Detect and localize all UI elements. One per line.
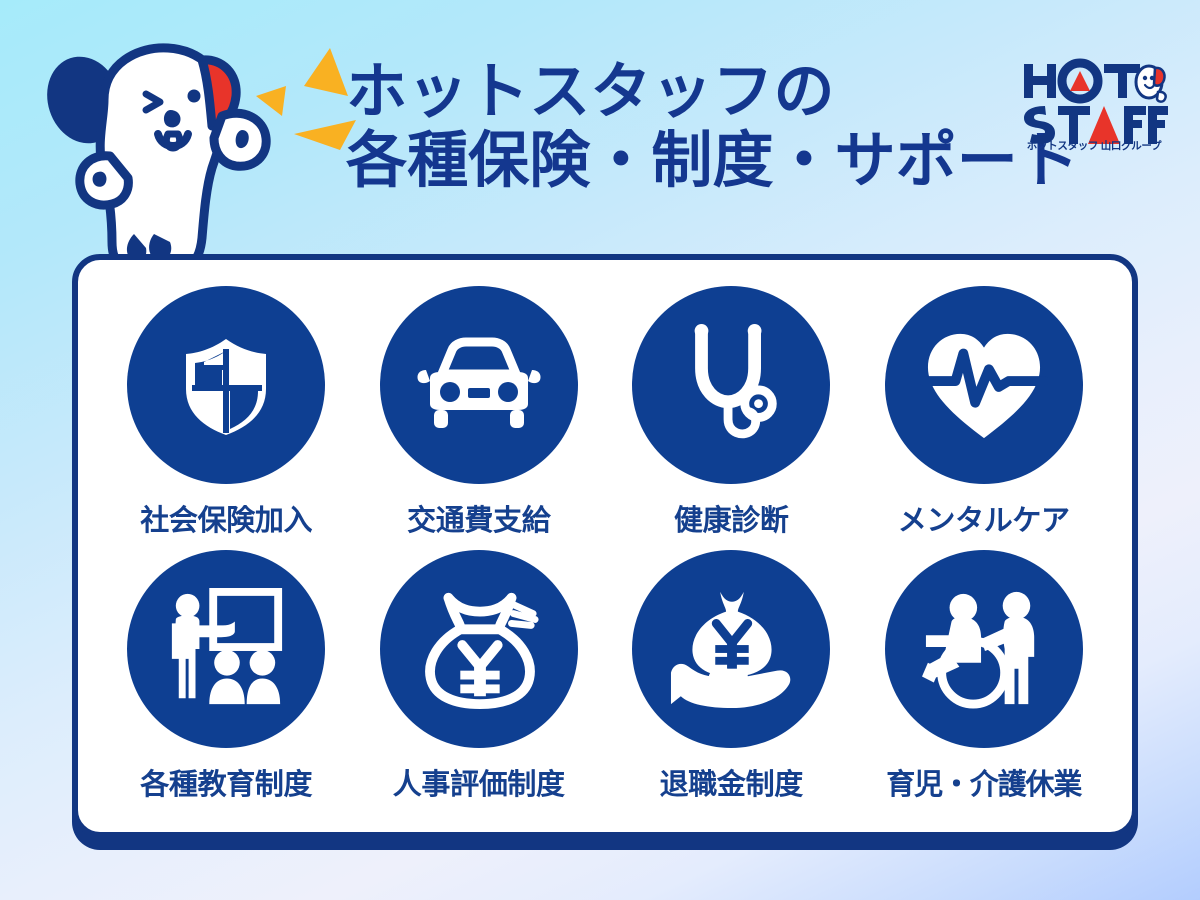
page-title: ホットスタッフの 各種保険・制度・サポート: [346, 60, 1079, 193]
benefit-item-ikuji-kaigo[interactable]: 育児・介護休業: [858, 550, 1111, 810]
page-title-line-2: 各種保険・制度・サポート: [346, 129, 1079, 192]
benefit-label: 育児・介護休業: [886, 761, 1081, 803]
icon-circle: [127, 286, 325, 484]
benefit-label: 退職金制度: [660, 761, 803, 803]
benefits-card: 社会保険加入: [72, 254, 1138, 838]
icon-circle: [127, 550, 325, 748]
benefit-item-mental-care[interactable]: メンタルケア: [858, 286, 1111, 546]
benefit-label: メンタルケア: [898, 497, 1070, 539]
logo-mascot-icon: [1136, 66, 1166, 102]
hot-staff-logo: ホットスタッフ 山口グループ: [1018, 58, 1170, 158]
logo-tagline: ホットスタッフ 山口グループ: [1018, 138, 1170, 153]
logo-word-top: [1024, 63, 1140, 99]
heart-pulse-icon: [920, 326, 1048, 444]
benefit-label: 健康診断: [674, 497, 789, 539]
benefits-grid: 社会保険加入: [100, 286, 1110, 810]
training-presentation-icon: [162, 588, 290, 711]
stethoscope-icon: [672, 321, 790, 449]
icon-circle: [380, 286, 578, 484]
benefit-label: 社会保険加入: [140, 497, 312, 539]
money-bag-in-hand-icon: [667, 588, 795, 711]
icon-circle: [885, 286, 1083, 484]
benefit-label: 各種教育制度: [140, 761, 312, 803]
benefit-item-kyouiku[interactable]: 各種教育制度: [100, 550, 353, 810]
icon-circle: [885, 550, 1083, 748]
icon-circle: [380, 550, 578, 748]
benefit-label: 交通費支給: [407, 497, 550, 539]
car-icon: [414, 330, 544, 440]
icon-circle: [632, 286, 830, 484]
benefit-label: 人事評価制度: [393, 761, 565, 803]
benefit-item-kenkou-shindan[interactable]: 健康診断: [605, 286, 858, 546]
shield-icon: [166, 325, 286, 445]
benefit-item-jinji-hyouka[interactable]: 人事評価制度: [353, 550, 606, 810]
page-title-line-1: ホットスタッフの: [346, 60, 1079, 123]
money-bag-outline-icon: [415, 588, 543, 711]
benefit-item-taishokukin[interactable]: 退職金制度: [605, 550, 858, 810]
benefit-item-shakai-hoken[interactable]: 社会保険加入: [100, 286, 353, 546]
wheelchair-caregiver-icon: [920, 588, 1048, 711]
benefit-item-koutsuhi[interactable]: 交通費支給: [353, 286, 606, 546]
icon-circle: [632, 550, 830, 748]
